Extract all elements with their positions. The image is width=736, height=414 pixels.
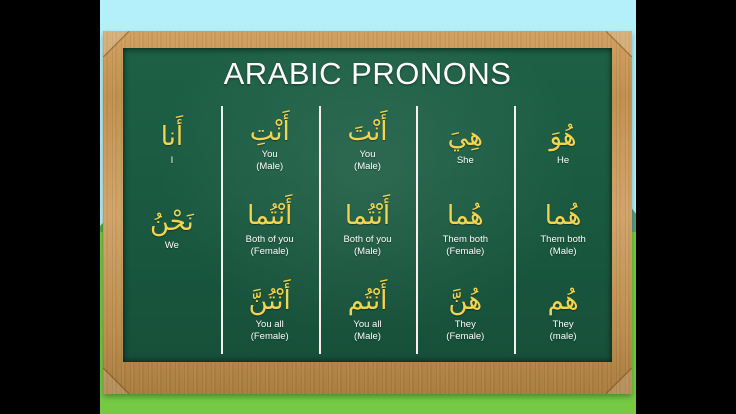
- pronoun-column-1: أَنا I نَحْنُ We: [123, 104, 221, 358]
- video-scene: ARABIC PRONONS أَنا I نَحْنُ: [100, 0, 636, 414]
- english-main: I: [171, 155, 174, 166]
- pronoun-cell: هُم They (male): [514, 273, 612, 358]
- english-main: You all: [353, 319, 381, 330]
- english-gloss: She: [457, 155, 474, 167]
- english-sub: (Male): [540, 246, 585, 258]
- page-title: ARABIC PRONONS: [123, 56, 612, 92]
- arabic-pronoun: هُنَّ: [449, 287, 483, 317]
- english-gloss: Them both (Male): [540, 234, 585, 258]
- arabic-pronoun: هُما: [545, 202, 582, 232]
- pronoun-column-4: هِيَ She هُما Them both (Female): [416, 104, 514, 358]
- english-gloss: Them both (Female): [443, 234, 488, 258]
- english-main: Both of you: [246, 234, 294, 245]
- english-gloss: You all (Female): [251, 319, 289, 343]
- english-main: We: [165, 240, 179, 251]
- english-gloss: They (Female): [446, 319, 484, 343]
- english-sub: (Male): [354, 161, 381, 173]
- arabic-pronoun: أَنْتُنَّ: [249, 287, 291, 317]
- pronoun-cell: أَنْتُما Both of you (Male): [319, 189, 417, 274]
- english-gloss: He: [557, 155, 569, 167]
- english-sub: (Female): [251, 331, 289, 343]
- english-sub: (Male): [353, 331, 381, 343]
- english-gloss: We: [165, 240, 179, 252]
- english-gloss: I: [171, 155, 174, 167]
- english-main: She: [457, 155, 474, 166]
- arabic-pronoun: أَنْتُما: [247, 202, 292, 232]
- arabic-pronoun: أَنْتِ: [250, 118, 290, 148]
- pronoun-cell: هُوَ He: [514, 104, 612, 189]
- english-sub: (Female): [246, 246, 294, 258]
- english-sub: (Male): [343, 246, 391, 258]
- pronoun-column-2: أَنْتِ You (Male) أَنْتُما Both of you (…: [221, 104, 319, 358]
- english-main: They: [553, 319, 574, 330]
- pronoun-cell: هُما Them both (Male): [514, 189, 612, 274]
- pronoun-cell: أَنا I: [123, 104, 221, 189]
- english-main: He: [557, 155, 569, 166]
- pronoun-cell: هِيَ She: [416, 104, 514, 189]
- arabic-pronoun: أَنْتُم: [348, 287, 388, 317]
- english-main: Them both: [443, 234, 488, 245]
- english-sub: (Male): [256, 161, 283, 173]
- english-main: Both of you: [343, 234, 391, 245]
- english-main: You: [359, 149, 375, 160]
- arabic-pronoun: أَنا: [161, 123, 183, 153]
- pronoun-cell: أَنْتُم You all (Male): [319, 273, 417, 358]
- letterbox-left: [0, 0, 100, 414]
- pronoun-column-3: أَنْتَ You (Male) أَنْتُما Both of you (…: [319, 104, 417, 358]
- pronoun-cell: أَنْتَ You (Male): [319, 104, 417, 189]
- arabic-pronoun: هِيَ: [448, 123, 483, 153]
- english-main: You all: [256, 319, 284, 330]
- pronoun-cell: هُما Them both (Female): [416, 189, 514, 274]
- screenshot-stage: ARABIC PRONONS أَنا I نَحْنُ: [0, 0, 736, 414]
- english-sub: (Female): [446, 331, 484, 343]
- english-gloss: You (Male): [354, 149, 381, 173]
- pronoun-grid: أَنا I نَحْنُ We: [123, 104, 612, 358]
- pronoun-cell: أَنْتِ You (Male): [221, 104, 319, 189]
- pronoun-cell: نَحْنُ We: [123, 189, 221, 274]
- blackboard: ARABIC PRONONS أَنا I نَحْنُ: [103, 31, 632, 394]
- arabic-pronoun: أَنْتُما: [345, 202, 390, 232]
- english-main: You: [262, 149, 278, 160]
- english-sub: (Female): [443, 246, 488, 258]
- pronoun-cell-empty: [123, 273, 221, 358]
- english-gloss: Both of you (Female): [246, 234, 294, 258]
- english-main: Them both: [540, 234, 585, 245]
- arabic-pronoun: هُم: [548, 287, 579, 317]
- letterbox-right: [636, 0, 736, 414]
- english-gloss: They (male): [550, 319, 577, 343]
- english-gloss: Both of you (Male): [343, 234, 391, 258]
- pronoun-cell: هُنَّ They (Female): [416, 273, 514, 358]
- pronoun-cell: أَنْتُنَّ You all (Female): [221, 273, 319, 358]
- english-gloss: You all (Male): [353, 319, 381, 343]
- pronoun-column-5: هُوَ He هُما Them both (Male): [514, 104, 612, 358]
- english-sub: (male): [550, 331, 577, 343]
- board-surface: ARABIC PRONONS أَنا I نَحْنُ: [123, 48, 612, 362]
- arabic-pronoun: هُما: [447, 202, 484, 232]
- english-gloss: You (Male): [256, 149, 283, 173]
- arabic-pronoun: هُوَ: [550, 123, 577, 153]
- arabic-pronoun: نَحْنُ: [150, 208, 194, 238]
- pronoun-cell: أَنْتُما Both of you (Female): [221, 189, 319, 274]
- english-main: They: [455, 319, 476, 330]
- arabic-pronoun: أَنْتَ: [347, 118, 387, 148]
